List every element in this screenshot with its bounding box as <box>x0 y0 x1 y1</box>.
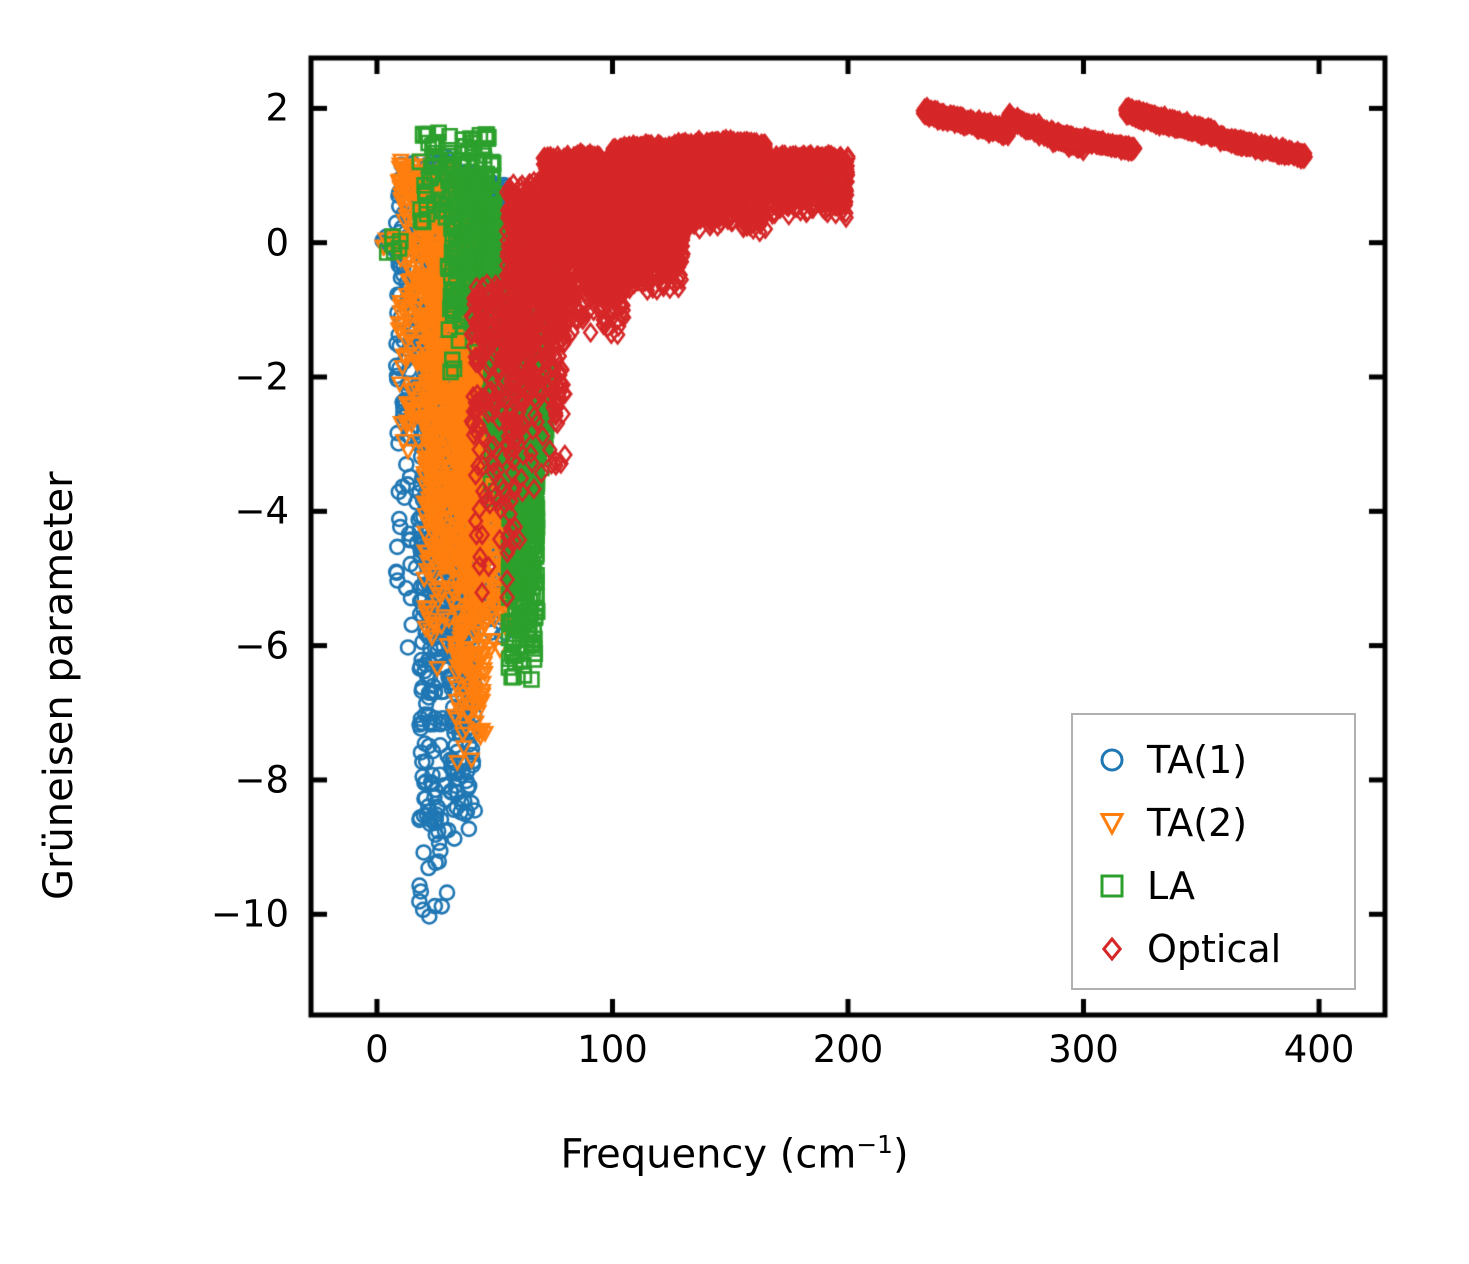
legend-label: TA(2) <box>1147 792 1247 854</box>
y-tick-label: −6 <box>234 624 289 667</box>
legend-label: LA <box>1147 855 1195 917</box>
x-tick-label: 300 <box>1048 1028 1119 1071</box>
triangle_down-marker-icon <box>1099 792 1143 854</box>
legend-item-ta1[interactable]: TA(1) <box>1073 729 1358 791</box>
y-tick-label: −4 <box>234 490 289 533</box>
y-tick-label: −8 <box>234 758 289 801</box>
legend: TA(1)TA(2)LAOptical <box>1071 713 1356 990</box>
square-marker-icon <box>1099 855 1143 917</box>
y-axis-label: Grüneisen parameter <box>36 471 82 900</box>
x-tick-label: 400 <box>1284 1028 1355 1071</box>
x-tick-label: 0 <box>365 1028 389 1071</box>
y-tick-label: 0 <box>265 221 289 264</box>
circle-marker-icon <box>1099 729 1143 791</box>
y-tick-label: 2 <box>265 87 289 130</box>
x-tick-label: 200 <box>813 1028 884 1071</box>
y-tick-label: −2 <box>234 356 289 399</box>
figure: Frequency (cm−1) Grüneisen parameter 010… <box>0 0 1469 1264</box>
legend-label: Optical <box>1147 918 1281 980</box>
y-tick-label: −10 <box>211 893 289 936</box>
legend-label: TA(1) <box>1147 729 1247 791</box>
scatter-plot-canvas <box>0 0 1469 1264</box>
legend-item-optical[interactable]: Optical <box>1073 918 1358 980</box>
legend-item-ta2[interactable]: TA(2) <box>1073 792 1358 854</box>
diamond-marker-icon <box>1099 918 1143 980</box>
x-axis-label: Frequency (cm−1) <box>0 1130 1469 1177</box>
x-tick-label: 100 <box>577 1028 648 1071</box>
legend-item-la[interactable]: LA <box>1073 855 1358 917</box>
